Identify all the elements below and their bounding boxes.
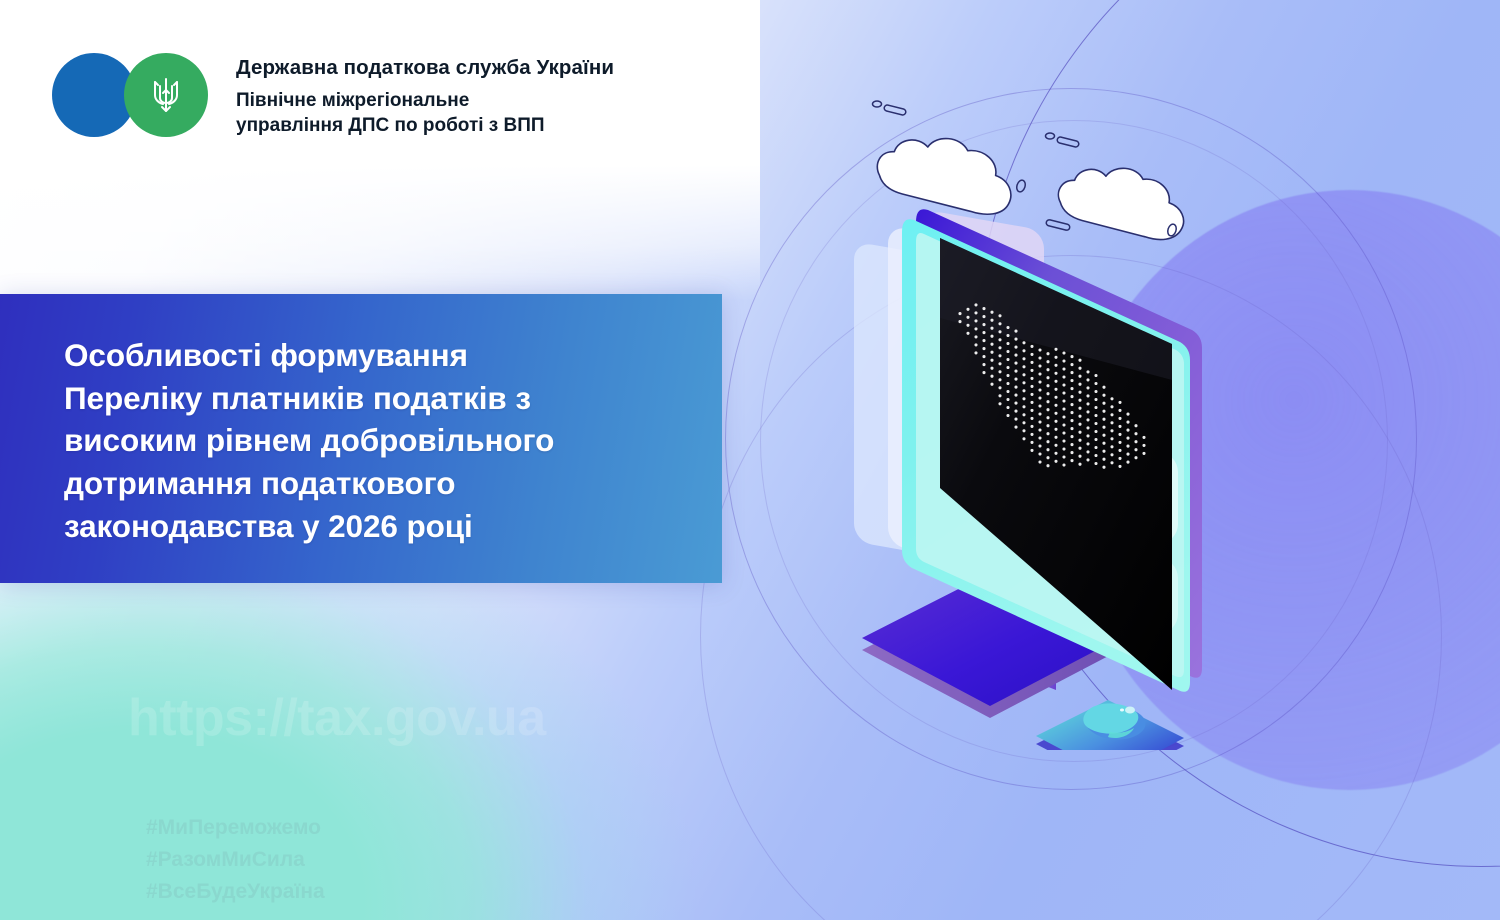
top-white-fade [0,0,760,300]
page-title: Особливості формування Переліку платникі… [64,334,696,547]
cloud-dash-1-icon [870,96,914,124]
poster-canvas: Територія високого рівня податкової дові… [0,0,1500,920]
org-name-line2: Північне міжрегіональне управління ДПС п… [236,89,614,138]
monitor-illustration: Територія високого рівня податкової дові… [840,190,1400,750]
title-banner: Особливості формування Переліку платникі… [0,294,722,583]
organisation-logo: Державна податкова служба України Північ… [52,53,614,139]
org-name-line1: Державна податкова служба України [236,56,614,80]
watermark-url: https://tax.gov.ua [128,688,546,748]
watermark-hashtags: #МиПереможемо #РазомМиСила #ВсеБудеУкраї… [146,812,325,908]
cloud-dash-2-icon [1043,128,1087,156]
logo-circle-green [124,53,208,137]
ukraine-trident-icon [146,73,186,117]
